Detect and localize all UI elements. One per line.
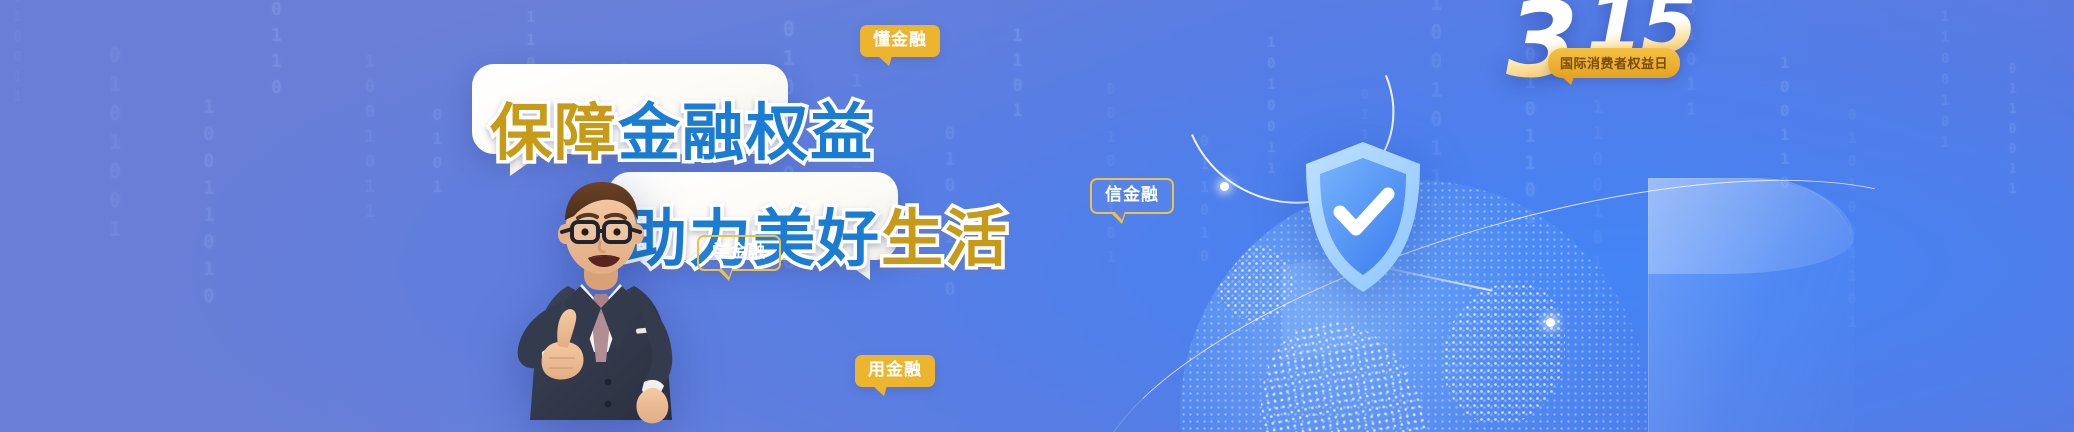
businessman-thumbs-up <box>496 176 706 432</box>
tag-xue-jinrong[interactable]: 学金融 <box>697 235 781 271</box>
binary-column: 010011 <box>11 0 24 110</box>
headline-1-gold: 保障 <box>490 96 618 169</box>
logo-ribbon: 国际消费者权益日 <box>1548 48 1680 78</box>
binary-column: 1100101 <box>1938 9 1952 156</box>
tag-dong-jinrong[interactable]: 懂金融 <box>860 25 940 57</box>
shield-check-icon <box>1298 138 1428 298</box>
ribbon-nub <box>1562 77 1574 85</box>
binary-column: 1001011 <box>361 52 378 227</box>
tag-label: 用金融 <box>868 360 922 380</box>
swoosh-end-dot <box>1220 182 1229 191</box>
binary-column: 0110 <box>267 0 285 103</box>
tag-label: 信金融 <box>1105 185 1159 205</box>
tag-label: 学金融 <box>712 242 766 262</box>
tag-xin-jinrong[interactable]: 信金融 <box>1090 178 1174 214</box>
binary-column: 0101 <box>429 105 445 201</box>
binary-column: 1101 <box>1009 26 1026 126</box>
promo-banner: 0100110101001100110100110100101101011100… <box>0 0 2074 432</box>
headline-1: 保障金融权益 <box>490 82 874 172</box>
tag-nub <box>1110 212 1126 224</box>
headline-2-gold: 生活 <box>881 202 1009 275</box>
binary-column: 0101001 <box>105 43 125 246</box>
binary-column: 00101101 <box>1102 79 1118 271</box>
binary-column: 10011010 <box>199 96 218 312</box>
tag-yong-jinrong[interactable]: 用金融 <box>855 355 935 387</box>
tag-nub <box>873 386 887 396</box>
tag-label: 懂金融 <box>873 30 927 50</box>
orbit-node <box>1546 318 1555 327</box>
logo-315: 3 15 国际消费者权益日 <box>1500 0 1720 102</box>
tag-nub <box>878 56 892 66</box>
binary-column: 0110011 <box>2006 62 2019 202</box>
tag-nub <box>717 269 733 281</box>
headline-1-blue: 金融权益 <box>618 96 874 169</box>
logo-ribbon-label: 国际消费者权益日 <box>1560 57 1668 72</box>
